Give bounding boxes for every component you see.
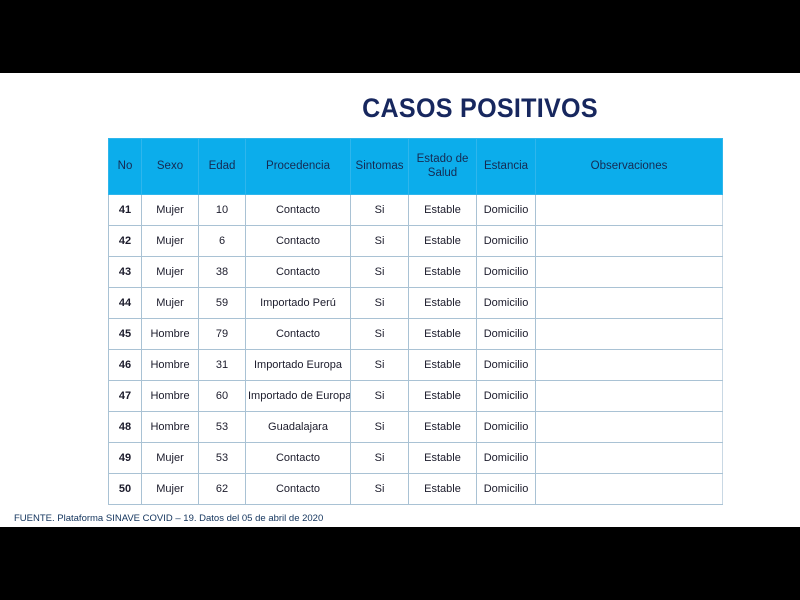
- cell-observations: [536, 381, 723, 412]
- cell-origin: Importado Perú: [246, 288, 351, 319]
- table-row: 45Hombre79ContactoSiEstableDomicilio: [109, 319, 723, 350]
- cell-observations: [536, 319, 723, 350]
- cell-origin: Guadalajara: [246, 412, 351, 443]
- table-row: 47Hombre60Importado de EuropaSiEstableDo…: [109, 381, 723, 412]
- letterbox-bottom: [0, 527, 800, 600]
- table-row: 46Hombre31Importado EuropaSiEstableDomic…: [109, 350, 723, 381]
- page-title: CASOS POSITIVOS: [201, 93, 759, 124]
- table-header-row: No Sexo Edad Procedencia Sintomas Estado…: [109, 139, 723, 195]
- cell-origin: Contacto: [246, 226, 351, 257]
- cell-age: 10: [199, 195, 246, 226]
- slide-canvas: CASOS POSITIVOS No Sexo Edad Procedencia…: [0, 73, 800, 527]
- cell-case-number: 42: [109, 226, 142, 257]
- cell-case-number: 50: [109, 474, 142, 505]
- cell-age: 60: [199, 381, 246, 412]
- cell-case-number: 45: [109, 319, 142, 350]
- slide-stage: CASOS POSITIVOS No Sexo Edad Procedencia…: [0, 0, 800, 600]
- cell-sex: Mujer: [142, 443, 199, 474]
- table-row: 49Mujer53ContactoSiEstableDomicilio: [109, 443, 723, 474]
- table-row: 42Mujer6ContactoSiEstableDomicilio: [109, 226, 723, 257]
- table-row: 41Mujer10ContactoSiEstableDomicilio: [109, 195, 723, 226]
- cell-symptoms: Si: [351, 443, 409, 474]
- cell-origin: Contacto: [246, 319, 351, 350]
- cell-observations: [536, 288, 723, 319]
- cell-stay: Domicilio: [477, 443, 536, 474]
- cell-health-status: Estable: [409, 350, 477, 381]
- cell-sex: Mujer: [142, 226, 199, 257]
- cell-symptoms: Si: [351, 381, 409, 412]
- cell-observations: [536, 443, 723, 474]
- column-header-estado-salud: Estado de Salud: [409, 139, 477, 195]
- cell-sex: Mujer: [142, 257, 199, 288]
- cell-stay: Domicilio: [477, 257, 536, 288]
- cell-symptoms: Si: [351, 288, 409, 319]
- cell-health-status: Estable: [409, 443, 477, 474]
- cell-case-number: 47: [109, 381, 142, 412]
- cell-stay: Domicilio: [477, 195, 536, 226]
- table-row: 43Mujer38ContactoSiEstableDomicilio: [109, 257, 723, 288]
- cell-symptoms: Si: [351, 474, 409, 505]
- cell-health-status: Estable: [409, 319, 477, 350]
- cell-health-status: Estable: [409, 257, 477, 288]
- cell-sex: Mujer: [142, 288, 199, 319]
- cell-symptoms: Si: [351, 257, 409, 288]
- column-header-procedencia: Procedencia: [246, 139, 351, 195]
- cases-table-container: No Sexo Edad Procedencia Sintomas Estado…: [108, 138, 722, 505]
- cell-observations: [536, 350, 723, 381]
- cell-symptoms: Si: [351, 412, 409, 443]
- cell-stay: Domicilio: [477, 288, 536, 319]
- table-row: 44Mujer59Importado PerúSiEstableDomicili…: [109, 288, 723, 319]
- cell-observations: [536, 412, 723, 443]
- cell-stay: Domicilio: [477, 226, 536, 257]
- cell-health-status: Estable: [409, 381, 477, 412]
- cell-sex: Hombre: [142, 381, 199, 412]
- cell-origin: Importado de Europa: [246, 381, 351, 412]
- cell-age: 38: [199, 257, 246, 288]
- cell-origin: Contacto: [246, 195, 351, 226]
- cell-case-number: 44: [109, 288, 142, 319]
- cell-age: 79: [199, 319, 246, 350]
- table-body: 41Mujer10ContactoSiEstableDomicilio42Muj…: [109, 195, 723, 505]
- cell-health-status: Estable: [409, 474, 477, 505]
- cell-health-status: Estable: [409, 226, 477, 257]
- cell-sex: Mujer: [142, 474, 199, 505]
- cell-case-number: 48: [109, 412, 142, 443]
- cell-case-number: 41: [109, 195, 142, 226]
- cell-sex: Hombre: [142, 412, 199, 443]
- cell-sex: Mujer: [142, 195, 199, 226]
- cell-health-status: Estable: [409, 288, 477, 319]
- table-row: 48Hombre53GuadalajaraSiEstableDomicilio: [109, 412, 723, 443]
- column-header-estancia: Estancia: [477, 139, 536, 195]
- cell-origin: Importado Europa: [246, 350, 351, 381]
- cell-stay: Domicilio: [477, 319, 536, 350]
- cell-case-number: 49: [109, 443, 142, 474]
- cell-observations: [536, 226, 723, 257]
- cell-health-status: Estable: [409, 412, 477, 443]
- cell-origin: Contacto: [246, 443, 351, 474]
- cell-sex: Hombre: [142, 319, 199, 350]
- table-row: 50Mujer62ContactoSiEstableDomicilio: [109, 474, 723, 505]
- cell-case-number: 43: [109, 257, 142, 288]
- cell-age: 31: [199, 350, 246, 381]
- cell-age: 53: [199, 443, 246, 474]
- cell-sex: Hombre: [142, 350, 199, 381]
- cell-stay: Domicilio: [477, 381, 536, 412]
- column-header-edad: Edad: [199, 139, 246, 195]
- column-header-sexo: Sexo: [142, 139, 199, 195]
- cell-origin: Contacto: [246, 474, 351, 505]
- cell-age: 6: [199, 226, 246, 257]
- cell-observations: [536, 257, 723, 288]
- cell-symptoms: Si: [351, 319, 409, 350]
- cell-symptoms: Si: [351, 195, 409, 226]
- table-header: No Sexo Edad Procedencia Sintomas Estado…: [109, 139, 723, 195]
- column-header-no: No: [109, 139, 142, 195]
- cell-case-number: 46: [109, 350, 142, 381]
- source-note: FUENTE. Plataforma SINAVE COVID – 19. Da…: [14, 513, 323, 524]
- column-header-observaciones: Observaciones: [536, 139, 723, 195]
- column-header-sintomas: Sintomas: [351, 139, 409, 195]
- cell-stay: Domicilio: [477, 350, 536, 381]
- cell-symptoms: Si: [351, 350, 409, 381]
- cell-symptoms: Si: [351, 226, 409, 257]
- cases-table: No Sexo Edad Procedencia Sintomas Estado…: [108, 138, 723, 505]
- letterbox-top: [0, 0, 800, 73]
- cell-age: 62: [199, 474, 246, 505]
- cell-observations: [536, 474, 723, 505]
- cell-age: 53: [199, 412, 246, 443]
- cell-observations: [536, 195, 723, 226]
- cell-stay: Domicilio: [477, 412, 536, 443]
- cell-origin: Contacto: [246, 257, 351, 288]
- cell-health-status: Estable: [409, 195, 477, 226]
- cell-age: 59: [199, 288, 246, 319]
- cell-stay: Domicilio: [477, 474, 536, 505]
